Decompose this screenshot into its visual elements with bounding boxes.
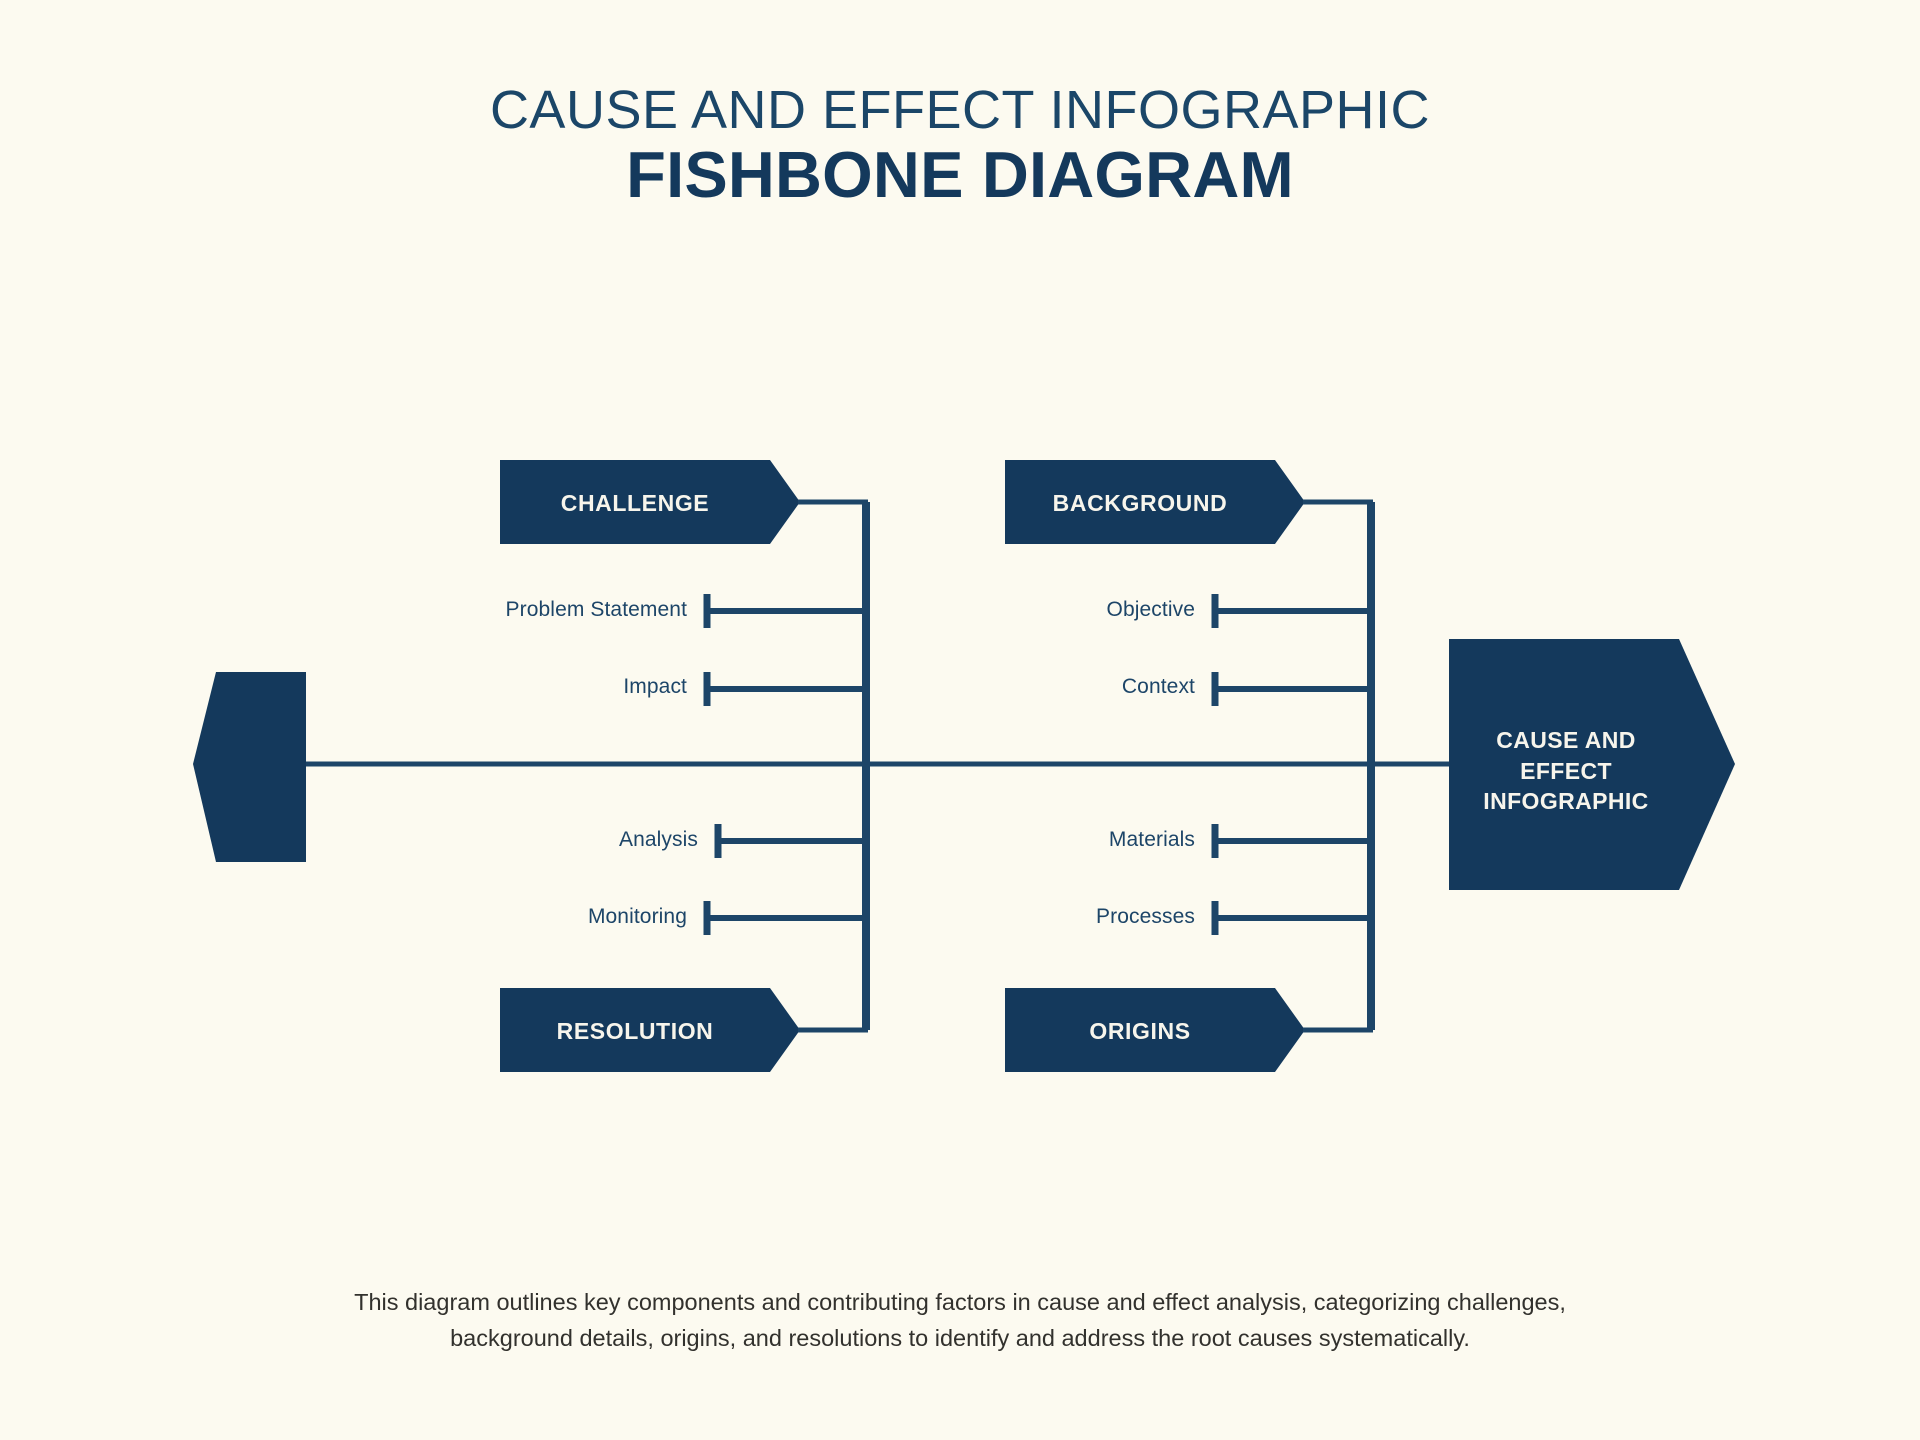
- head-label: CAUSE AND EFFECT INFOGRAPHIC: [1456, 725, 1676, 817]
- banner-resolution-shape: [500, 988, 800, 1072]
- caption-line-1: This diagram outlines key components and…: [250, 1285, 1670, 1321]
- tail-shape: [193, 672, 306, 862]
- head-label-line-3: INFOGRAPHIC: [1456, 786, 1676, 817]
- bone-label-impact[interactable]: Impact: [287, 675, 687, 699]
- banner-challenge-shape: [500, 460, 800, 544]
- head-label-line-2: EFFECT: [1456, 756, 1676, 787]
- bone-label-materials[interactable]: Materials: [795, 828, 1195, 852]
- caption-line-2: background details, origins, and resolut…: [250, 1321, 1670, 1357]
- banner-background-shape: [1005, 460, 1305, 544]
- bone-label-processes[interactable]: Processes: [795, 905, 1195, 929]
- bone-label-analysis[interactable]: Analysis: [298, 828, 698, 852]
- bone-label-context[interactable]: Context: [795, 675, 1195, 699]
- bone-label-objective[interactable]: Objective: [795, 598, 1195, 622]
- bone-label-monitoring[interactable]: Monitoring: [287, 905, 687, 929]
- fishbone-diagram: CHALLENGE BACKGROUND RESOLUTION ORIGINS …: [0, 0, 1920, 1440]
- banner-origins-shape: [1005, 988, 1305, 1072]
- caption: This diagram outlines key components and…: [250, 1285, 1670, 1356]
- bone-label-problem-statement[interactable]: Problem Statement: [287, 598, 687, 622]
- head-label-line-1: CAUSE AND: [1456, 725, 1676, 756]
